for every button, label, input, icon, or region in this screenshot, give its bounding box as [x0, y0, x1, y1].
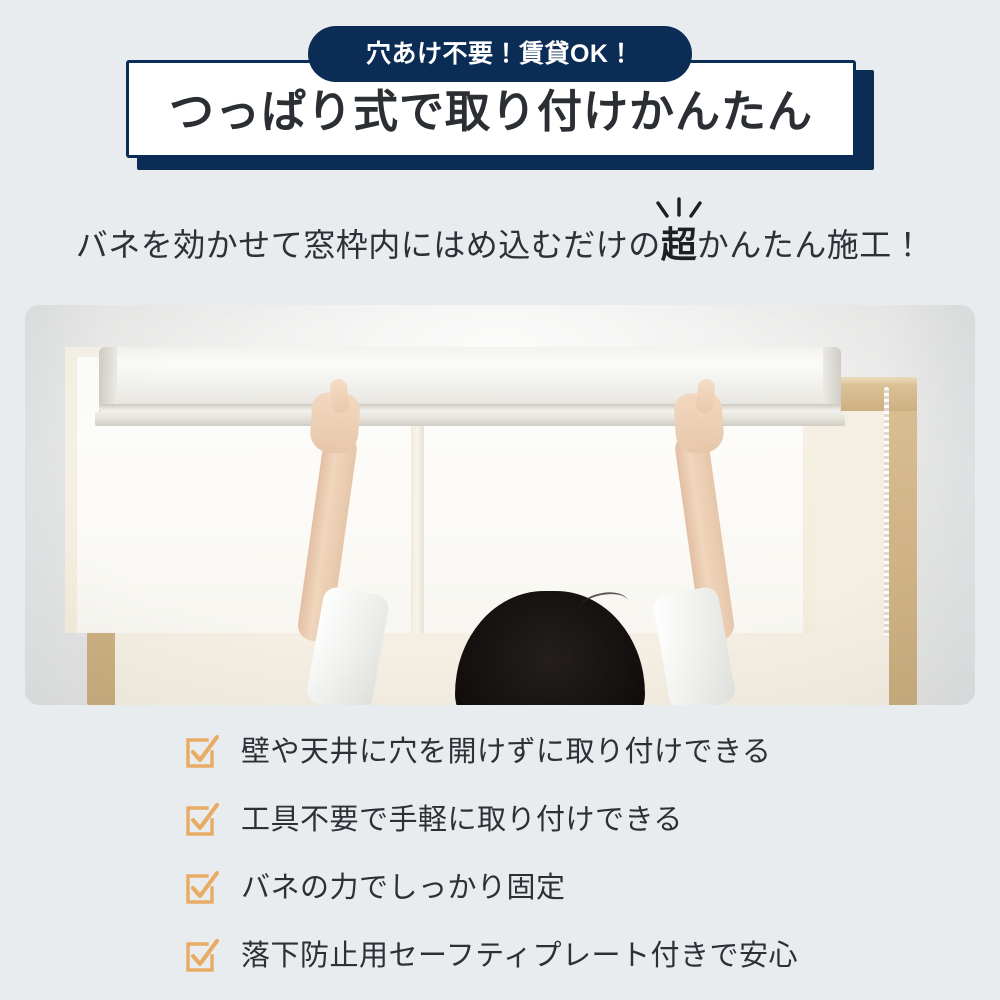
subtitle-emphasis-wrap: 超: [661, 227, 697, 263]
badge-label: 穴あけ不要！賃貸OK！: [366, 42, 634, 67]
window-mullion: [411, 423, 424, 633]
subtitle: バネを効かせて窓枠内にはめ込むだけの 超 かんたん施工！: [0, 215, 1000, 275]
sparkle-marks-icon: [651, 197, 707, 225]
checkbox-checked-icon: [185, 735, 219, 769]
status-badge: 穴あけ不要！賃貸OK！: [308, 26, 692, 82]
subtitle-after: かんたん施工！: [697, 229, 925, 261]
feature-label: 壁や天井に穴を開けずに取り付けできる: [241, 738, 771, 767]
feature-label: 落下防止用セーフティプレート付きで安心: [241, 942, 798, 971]
blind-tube-seam: [99, 404, 841, 412]
feature-list: 壁や天井に穴を開けずに取り付けできる 工具不要で手軽に取り付けできる バネの力で…: [0, 718, 1000, 990]
list-item: 工具不要で手軽に取り付けできる: [0, 786, 1000, 854]
page-title: つっぱり式で取り付けかんたん: [169, 85, 813, 134]
header-block: つっぱり式で取り付けかんたん 穴あけ不要！賃貸OK！: [0, 0, 1000, 180]
subtitle-emphasis: 超: [661, 224, 697, 265]
feature-label: 工具不要で手軽に取り付けできる: [241, 806, 683, 835]
list-item: 落下防止用セーフティプレート付きで安心: [0, 922, 1000, 990]
product-installation-photo: [25, 305, 975, 705]
checkbox-checked-icon: [185, 871, 219, 905]
checkbox-checked-icon: [185, 803, 219, 837]
list-item: バネの力でしっかり固定: [0, 854, 1000, 922]
bead-chain: [884, 387, 889, 637]
list-item: 壁や天井に穴を開けずに取り付けできる: [0, 718, 1000, 786]
feature-label: バネの力でしっかり固定: [241, 874, 566, 903]
checkbox-checked-icon: [185, 939, 219, 973]
subtitle-before: バネを効かせて窓枠内にはめ込むだけの: [76, 229, 661, 261]
blind-bottom-bar: [95, 412, 845, 426]
